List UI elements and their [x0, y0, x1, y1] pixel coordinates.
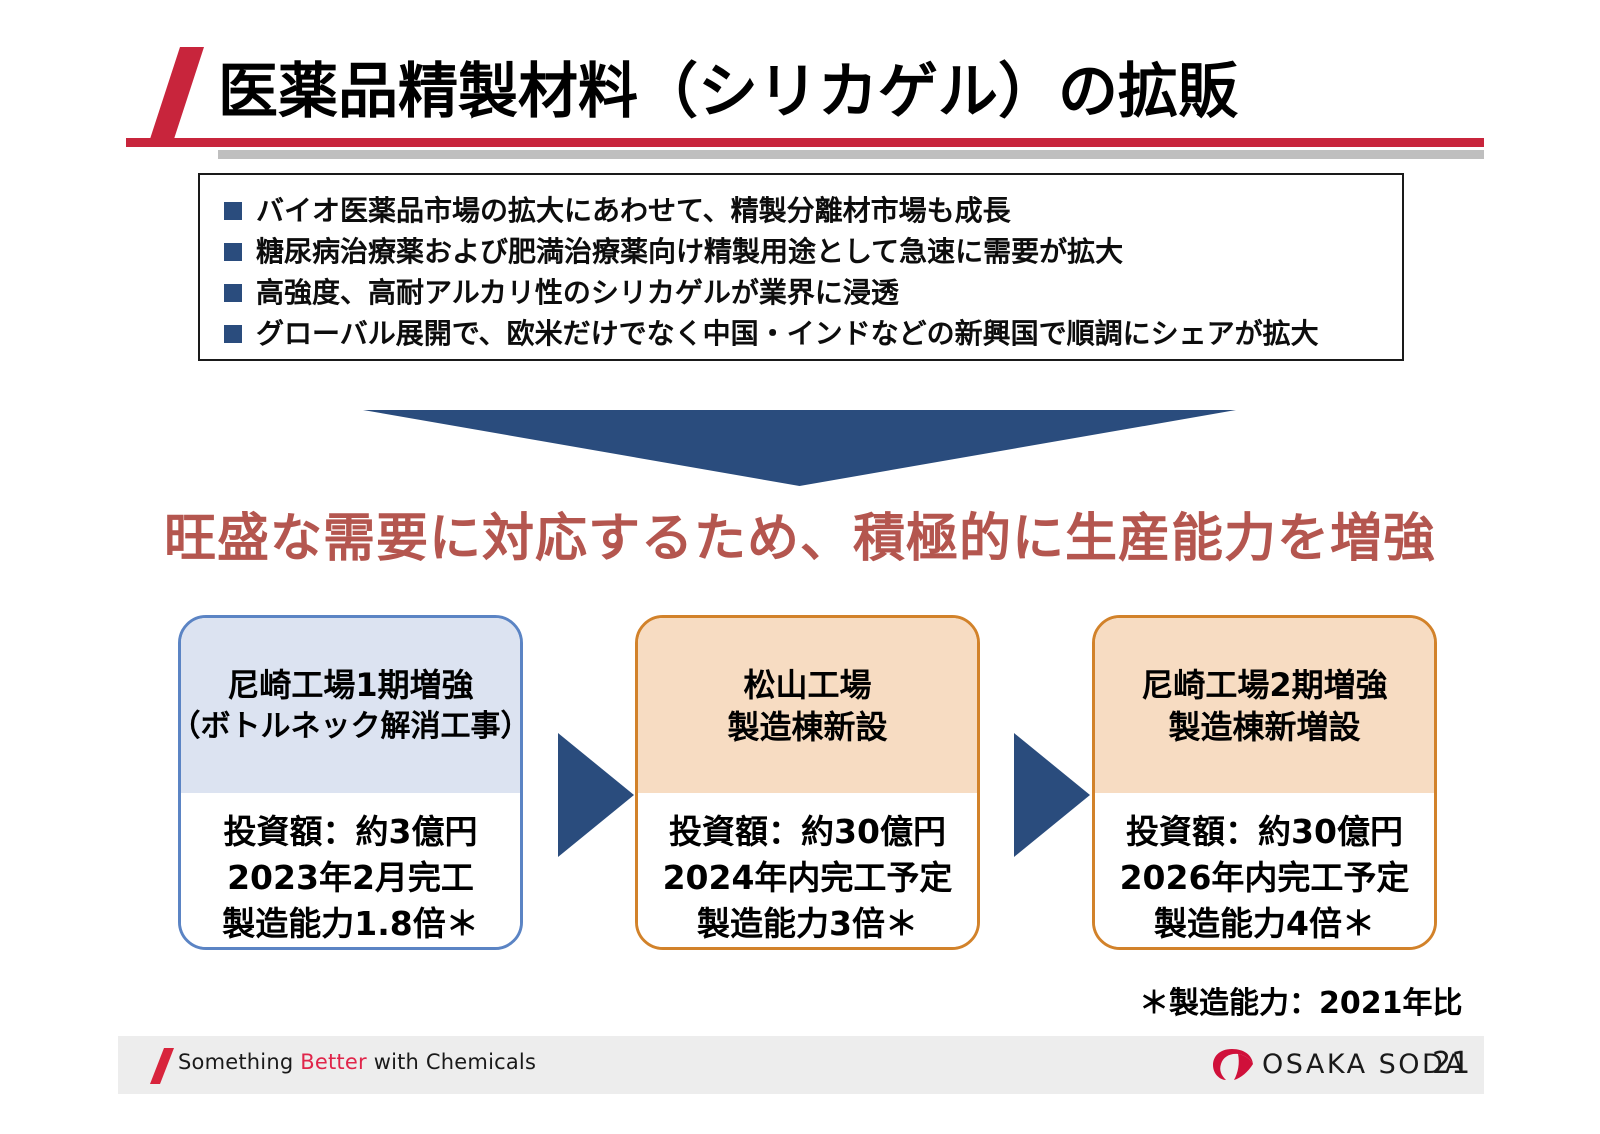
- process-step-card-3: 尼崎工場2期増強 製造棟新増設 投資額：約30億円 2026年内完工予定 製造能…: [1092, 615, 1437, 950]
- footer-tagline: Something Better with Chemicals: [178, 1050, 536, 1074]
- bullet-square-icon: [224, 243, 242, 261]
- process-step-capacity: 製造能力1.8倍＊: [181, 901, 520, 947]
- bullet-square-icon: [224, 284, 242, 302]
- process-step-completion: 2023年2月完工: [181, 855, 520, 901]
- page-number: 21: [1432, 1046, 1470, 1081]
- list-item-label: バイオ医薬品市場の拡大にあわせて、精製分離材市場も成長: [256, 192, 1011, 230]
- process-step-header: 尼崎工場2期増強 製造棟新増設: [1095, 618, 1434, 793]
- title-underline-red: [126, 138, 1484, 147]
- list-item: グローバル展開で、欧米だけでなく中国・インドなどの新興国で順調にシェアが拡大: [224, 315, 1402, 353]
- title-underline-gray: [218, 150, 1484, 159]
- page-title: 医薬品精製材料（シリカゲル）の拡販: [218, 50, 1238, 134]
- process-step-card-2: 松山工場 製造棟新設 投資額：約30億円 2024年内完工予定 製造能力3倍＊: [635, 615, 980, 950]
- right-arrow-icon: [558, 733, 634, 857]
- list-item: 糖尿病治療薬および肥満治療薬向け精製用途として急速に需要が拡大: [224, 233, 1402, 271]
- process-step-title-line2: 製造棟新設: [727, 706, 887, 748]
- process-step-title-line2: （ボトルネック解消工事）: [178, 706, 523, 748]
- list-item: 高強度、高耐アルカリ性のシリカゲルが業界に浸透: [224, 274, 1402, 312]
- process-step-body: 投資額：約3億円 2023年2月完工 製造能力1.8倍＊: [181, 793, 520, 947]
- process-step-capacity: 製造能力3倍＊: [638, 901, 977, 947]
- key-points-box: バイオ医薬品市場の拡大にあわせて、精製分離材市場も成長 糖尿病治療薬および肥満治…: [198, 173, 1404, 361]
- title-accent-slash-icon: [150, 47, 204, 139]
- process-step-investment: 投資額：約30億円: [638, 809, 977, 855]
- list-item-label: 糖尿病治療薬および肥満治療薬向け精製用途として急速に需要が拡大: [256, 233, 1123, 271]
- bullet-square-icon: [224, 325, 242, 343]
- process-step-header: 尼崎工場1期増強 （ボトルネック解消工事）: [181, 618, 520, 793]
- right-arrow-icon: [1014, 733, 1090, 857]
- process-step-card-1: 尼崎工場1期増強 （ボトルネック解消工事） 投資額：約3億円 2023年2月完工…: [178, 615, 523, 950]
- process-step-title-line2: 製造棟新増設: [1168, 706, 1360, 748]
- list-item-label: グローバル展開で、欧米だけでなく中国・インドなどの新興国で順調にシェアが拡大: [256, 315, 1319, 353]
- footer-accent-slash-icon: [150, 1048, 174, 1084]
- process-step-investment: 投資額：約30億円: [1095, 809, 1434, 855]
- down-arrow-icon: [363, 410, 1236, 486]
- title-bar: 医薬品精製材料（シリカゲル）の拡販: [0, 0, 1600, 165]
- list-item: バイオ医薬品市場の拡大にあわせて、精製分離材市場も成長: [224, 192, 1402, 230]
- list-item-label: 高強度、高耐アルカリ性のシリカゲルが業界に浸透: [256, 274, 899, 312]
- process-step-investment: 投資額：約3億円: [181, 809, 520, 855]
- bullet-square-icon: [224, 202, 242, 220]
- footnote: ＊製造能力：2021年比: [1139, 978, 1463, 1022]
- footer-tagline-pre: Something: [178, 1050, 300, 1074]
- footer-tagline-post: with Chemicals: [367, 1050, 536, 1074]
- process-step-title-line1: 尼崎工場2期増強: [1141, 664, 1387, 706]
- process-step-body: 投資額：約30億円 2024年内完工予定 製造能力3倍＊: [638, 793, 977, 947]
- footer-tagline-highlight: Better: [300, 1050, 367, 1074]
- process-step-title-line1: 尼崎工場1期増強: [227, 664, 473, 706]
- osaka-soda-logo-icon: [1212, 1046, 1254, 1082]
- process-step-header: 松山工場 製造棟新設: [638, 618, 977, 793]
- process-step-completion: 2026年内完工予定: [1095, 855, 1434, 901]
- process-step-title-line1: 松山工場: [743, 664, 871, 706]
- company-logo: OSAKA SODA: [1212, 1046, 1466, 1082]
- process-step-body: 投資額：約30億円 2026年内完工予定 製造能力4倍＊: [1095, 793, 1434, 947]
- process-step-completion: 2024年内完工予定: [638, 855, 977, 901]
- process-step-capacity: 製造能力4倍＊: [1095, 901, 1434, 947]
- headline-message: 旺盛な需要に対応するため、積極的に生産能力を増強: [0, 496, 1600, 571]
